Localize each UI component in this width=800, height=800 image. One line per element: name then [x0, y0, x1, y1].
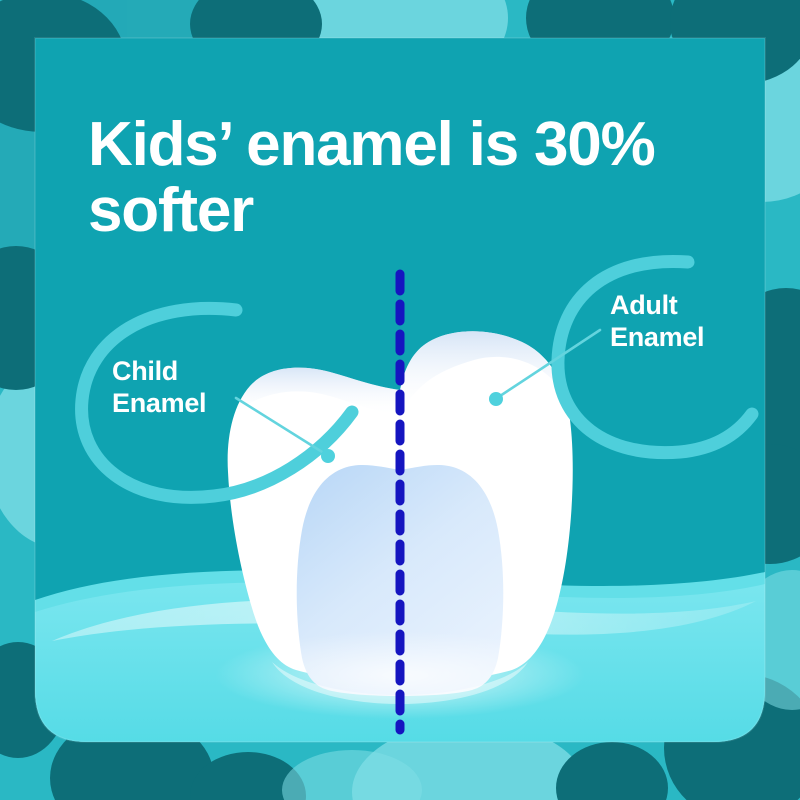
adult-enamel-label: Adult Enamel: [610, 290, 704, 354]
adult-label-line-2: Enamel: [610, 322, 704, 354]
poster-canvas: Kids’ enamel is 30% softer Child Enamel …: [0, 0, 800, 800]
child-label-line-1: Child: [112, 356, 206, 388]
child-label-line-2: Enamel: [112, 388, 206, 420]
child-enamel-label: Child Enamel: [112, 356, 206, 420]
adult-label-line-1: Adult: [610, 290, 704, 322]
headline-line-2: softer: [88, 178, 708, 244]
headline-line-1: Kids’ enamel is 30%: [88, 112, 708, 178]
page-title: Kids’ enamel is 30% softer: [88, 112, 708, 243]
